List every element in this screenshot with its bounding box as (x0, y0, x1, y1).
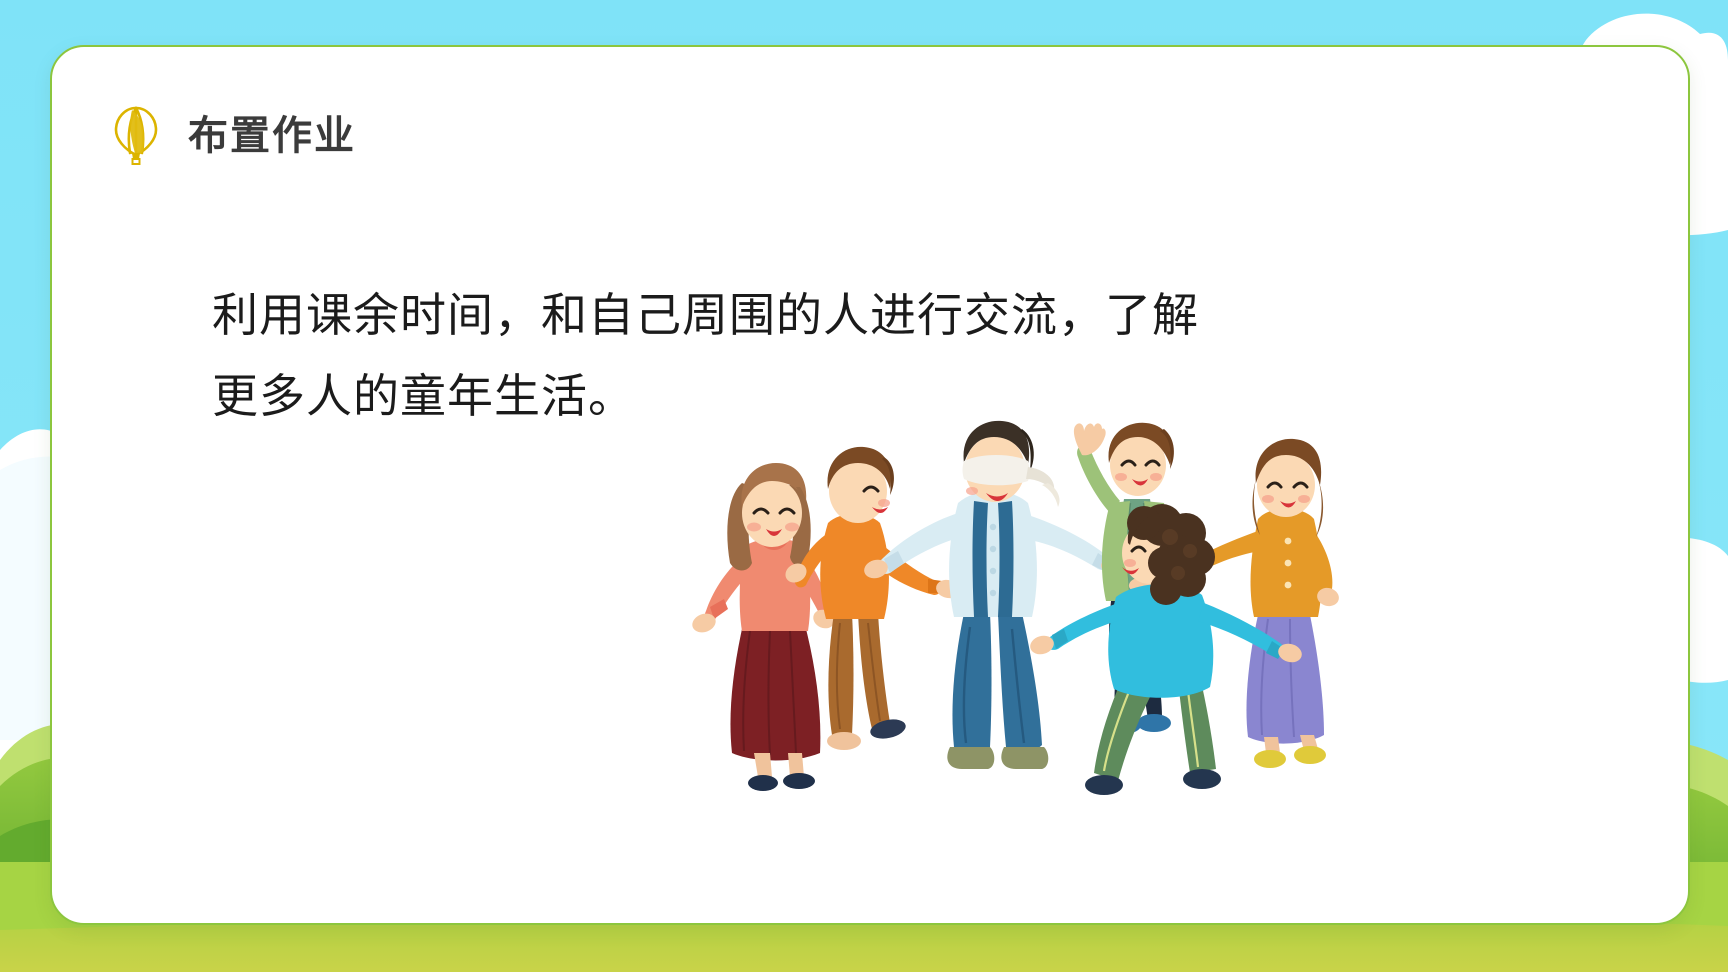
slide-heading: 布置作业 (110, 105, 356, 167)
page-title: 布置作业 (188, 116, 356, 156)
body-line-1: 利用课余时间，和自己周围的人进行交流，了解 (212, 275, 1542, 356)
children-playing-blind-mans-bluff-illustration (692, 417, 1352, 797)
hot-air-balloon-icon (110, 105, 162, 167)
child-figure-pink-girl (692, 463, 838, 791)
slide-card: 布置作业 利用课余时间，和自己周围的人进行交流，了解 更多人的童年生活。 (50, 45, 1690, 925)
assignment-body-text: 利用课余时间，和自己周围的人进行交流，了解 更多人的童年生活。 (212, 275, 1542, 436)
